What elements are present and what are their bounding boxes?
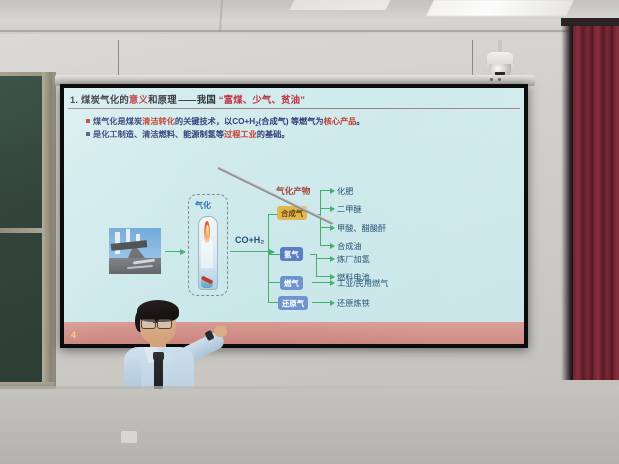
glasses-lens-left-icon xyxy=(141,319,156,329)
product-box-fuelgas: 燃气 xyxy=(280,276,303,290)
slide-title-prefix: 1. 煤炭气化的 xyxy=(70,94,129,105)
tree-spine xyxy=(268,214,269,302)
chalkboard-edge xyxy=(42,72,52,390)
bullet-2-highlight-1: 过程工业 xyxy=(224,130,257,139)
hydrogen-sub-spine xyxy=(316,258,317,276)
coal-mine-photo xyxy=(109,228,161,274)
leaf-synthetic-oil: 合成油 xyxy=(337,240,362,252)
tree-branch-red xyxy=(268,302,278,303)
bullet-1-highlight-2: 核心产品 xyxy=(324,117,357,126)
chalkboard-divider xyxy=(0,228,42,233)
presenter-right-hand xyxy=(214,326,227,337)
arrow-coal-to-gasifier xyxy=(165,251,185,252)
arrow-to-syntheticoil xyxy=(320,245,334,246)
leaf-industrial-domestic-gas: 工业/民用燃气 xyxy=(337,277,388,289)
leaf-direct-reduced-iron: 还原炼铁 xyxy=(337,297,370,309)
screen-hanger-wire-right xyxy=(472,40,473,78)
bullet-square-red-icon xyxy=(86,119,90,123)
bullet-2-part2: 的基础。 xyxy=(257,130,290,139)
ceiling-light-fixture xyxy=(426,0,574,16)
product-box-hydrogen: 氢气 xyxy=(280,247,303,261)
syngas-formula-label: CO+H₂ xyxy=(235,235,264,245)
arrow-to-fertilizer xyxy=(320,190,334,191)
housing-indicator-icon-2 xyxy=(498,78,501,81)
ceiling-light-fixture-secondary xyxy=(290,0,391,10)
slide-bullet-2: 是化工制造、清洁燃料、能源制氢等过程工业的基础。 xyxy=(86,128,290,140)
slide-title: 1. 煤炭气化的意义和原理 —— 我国 “富煤、少气、贫油” xyxy=(70,92,520,106)
arrow-to-dme xyxy=(320,208,334,209)
slide-title-accent-1: 意义 xyxy=(129,94,148,105)
leaf-dme: 二甲醚 xyxy=(337,203,362,215)
slide-title-dash: —— xyxy=(177,94,197,105)
bullet-1-part4: 。 xyxy=(356,117,364,126)
flame-core-icon xyxy=(206,225,209,238)
product-box-reducinggas: 还原气 xyxy=(278,296,308,310)
slide-bullet-1: 煤气化是煤炭清洁转化的关键技术，以CO+H2(合成气) 等燃气为核心产品。 xyxy=(86,115,365,128)
window-curtain xyxy=(573,22,619,380)
bullet-square-blue-icon xyxy=(86,132,90,136)
slide-title-mid: 和原理 xyxy=(148,94,177,105)
tree-branch-h2 xyxy=(268,254,280,255)
arrow-to-fuelcell xyxy=(316,276,334,277)
bullet-1-highlight-1: 清洁转化 xyxy=(142,117,175,126)
room-floor xyxy=(0,389,619,464)
glasses-bridge-icon xyxy=(153,322,158,323)
screen-hanger-wire-left xyxy=(118,40,119,78)
bullet-1-part3: (合成气) 等燃气为 xyxy=(259,117,324,126)
arrow-to-refinery-hydro xyxy=(316,258,334,259)
tree-branch-fuel xyxy=(268,282,280,283)
power-outlet xyxy=(120,430,138,444)
slide-title-tail: 我国 xyxy=(197,94,219,105)
bullet-1-part2: 的关键技术，以CO+H xyxy=(175,117,255,126)
leaf-fertilizer: 化肥 xyxy=(337,185,353,197)
arrow-to-industrial-gas xyxy=(312,282,334,283)
slide-page-number: 4 xyxy=(71,330,76,340)
leaf-acids: 甲酸、醋酸酐 xyxy=(337,222,386,234)
arrow-to-direct-reduction xyxy=(312,302,334,303)
housing-indicator-icon xyxy=(490,78,493,81)
classroom-scene: 1. 煤炭气化的意义和原理 —— 我国 “富煤、少气、贫油” 煤气化是煤炭清洁转… xyxy=(0,0,619,464)
gasifier-label: 气化 xyxy=(195,200,211,211)
window-recess-shadow xyxy=(561,20,573,380)
bullet-1-part1: 煤气化是煤炭 xyxy=(93,117,142,126)
hydrogen-spine-join xyxy=(316,254,317,260)
ceiling-seam xyxy=(0,30,619,32)
curtain-rail xyxy=(561,18,619,26)
leaf-refinery-hydrotreating: 炼厂加氢 xyxy=(337,253,370,265)
arrow-to-acids xyxy=(320,227,334,228)
tree-title: 气化产物 xyxy=(276,185,310,197)
bullet-2-part1: 是化工制造、清洁燃料、能源制氢等 xyxy=(93,130,224,139)
slide-title-accent-2: “富煤、少气、贫油” xyxy=(219,94,305,105)
title-underline xyxy=(68,108,520,109)
glasses-lens-right-icon xyxy=(157,319,172,329)
